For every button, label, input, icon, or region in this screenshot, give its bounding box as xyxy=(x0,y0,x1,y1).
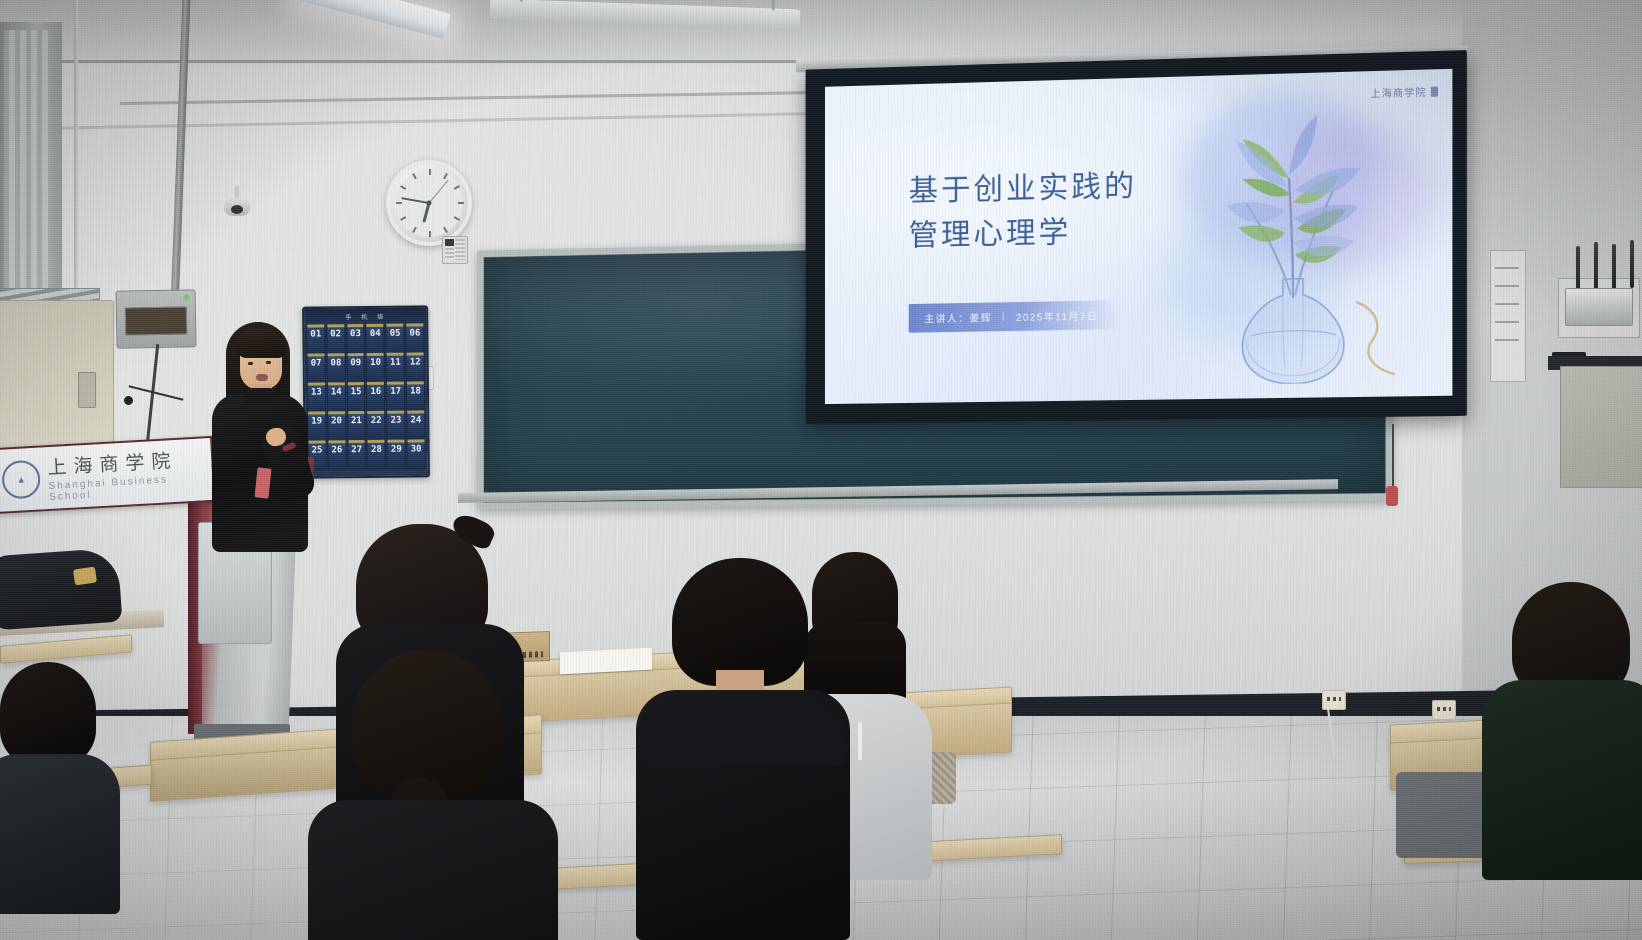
presenter-fringe xyxy=(236,328,286,358)
chair-back xyxy=(1396,772,1496,858)
pocket-chart-header-label: 机 xyxy=(361,311,369,320)
student-torso xyxy=(308,800,558,940)
pocket-chart-row: 07 08 09 10 11 12 xyxy=(307,354,425,383)
pocket-cell[interactable]: 18 xyxy=(406,383,425,411)
antenna-icon xyxy=(1630,240,1634,288)
pocket-number: 12 xyxy=(410,358,421,367)
institution-banner: ▲ 上海商学院 Shanghai Business School xyxy=(0,436,216,514)
pocket-number: 20 xyxy=(331,417,342,426)
pocket-chart-row: 25 26 27 28 29 30 xyxy=(308,441,426,470)
student-head xyxy=(0,662,96,766)
pocket-number: 08 xyxy=(330,359,341,368)
pocket-number: 30 xyxy=(411,445,422,454)
hoodie-drawstring xyxy=(858,722,862,760)
slide-date: 2025年11月7日 xyxy=(1016,308,1099,324)
pocket-number: 22 xyxy=(371,417,382,426)
pocket-cell[interactable]: 09 xyxy=(346,355,365,383)
student-torso xyxy=(0,754,120,914)
pocket-number: 23 xyxy=(391,417,402,426)
pocket-number: 01 xyxy=(310,330,321,339)
pocket-number: 06 xyxy=(409,329,420,338)
slide-subtitle-divider: | xyxy=(1002,311,1006,322)
pocket-number: 09 xyxy=(350,359,361,368)
microphone-icon xyxy=(124,396,133,405)
pocket-cell[interactable]: 19 xyxy=(307,413,326,441)
curtain xyxy=(4,30,50,310)
pocket-number: 07 xyxy=(311,359,322,368)
pocket-chart-header-label: 袋 xyxy=(377,311,385,320)
pocket-cell[interactable]: 12 xyxy=(406,354,425,382)
pocket-number: 25 xyxy=(312,446,323,455)
slide-logo-text: 上海商学院 xyxy=(1370,84,1426,101)
pocket-number: 13 xyxy=(311,388,322,397)
dark-bag xyxy=(0,548,122,631)
pocket-number: 05 xyxy=(390,330,401,339)
slide-institution-logo: 上海商学院 xyxy=(1370,83,1438,100)
pocket-cell[interactable]: 24 xyxy=(406,412,425,440)
wall-conduit-thin-left xyxy=(74,0,78,290)
pocket-cell[interactable]: 10 xyxy=(366,355,385,383)
pocket-number: 29 xyxy=(391,446,402,455)
pocket-number: 19 xyxy=(311,417,322,426)
pocket-cell[interactable]: 27 xyxy=(347,442,366,470)
wall-clock xyxy=(386,160,472,246)
bag-tag xyxy=(73,567,97,586)
pocket-number: 02 xyxy=(330,330,341,339)
pocket-cell[interactable]: 29 xyxy=(387,442,406,470)
university-seal-icon: ▲ xyxy=(1,460,41,500)
classroom-photo: 手 机 袋 01 02 03 04 05 06 07 08 09 10 11 1… xyxy=(0,0,1642,940)
pocket-chart-header-label: 手 xyxy=(345,312,353,321)
signal-router-unit xyxy=(1565,288,1633,326)
antenna-icon xyxy=(1594,242,1598,290)
presenter-mouth xyxy=(256,374,268,381)
pocket-cell[interactable]: 15 xyxy=(347,384,366,412)
power-outlet[interactable] xyxy=(1322,690,1346,710)
pocket-cell[interactable]: 03 xyxy=(346,326,365,354)
pocket-cell[interactable]: 28 xyxy=(367,442,386,470)
projection-screen-frame: 上海商学院 基于创业实践的 管理心理学 主讲人：姜辉 | 2025年11月7日 xyxy=(806,50,1467,424)
student-hood xyxy=(642,696,848,766)
pocket-cell[interactable]: 04 xyxy=(366,326,385,354)
pocket-number: 16 xyxy=(370,388,381,397)
ac-control-knob[interactable] xyxy=(78,372,96,408)
pocket-cell[interactable]: 26 xyxy=(327,442,346,470)
pocket-number: 15 xyxy=(351,388,362,397)
pocket-cell[interactable]: 23 xyxy=(387,413,406,441)
student-head xyxy=(672,558,808,686)
air-conditioner-unit xyxy=(0,300,114,452)
slide-title-line-1: 基于创业实践的 xyxy=(909,162,1227,214)
pocket-number: 21 xyxy=(351,417,362,426)
book-mark-icon xyxy=(1431,86,1438,96)
pocket-cell[interactable]: 02 xyxy=(326,326,345,354)
pocket-chart-row: 13 14 15 16 17 18 xyxy=(307,383,425,412)
wall-keypad[interactable] xyxy=(442,236,468,264)
student-torso xyxy=(1482,680,1642,880)
presenter-collar xyxy=(244,388,278,406)
phone-pocket-chart: 手 机 袋 01 02 03 04 05 06 07 08 09 10 11 1… xyxy=(302,305,430,478)
student-head xyxy=(352,650,502,800)
slide-title: 基于创业实践的 管理心理学 xyxy=(909,162,1227,259)
slide-title-line-2: 管理心理学 xyxy=(909,207,1227,259)
screen-pull-handle[interactable] xyxy=(1386,486,1398,506)
pocket-cell[interactable]: 21 xyxy=(347,413,366,441)
antenna-icon xyxy=(1612,244,1616,292)
pocket-cell[interactable]: 20 xyxy=(327,413,346,441)
pocket-chart-header: 手 机 袋 xyxy=(304,307,426,324)
pocket-cell[interactable]: 14 xyxy=(327,384,346,412)
pocket-cell[interactable]: 05 xyxy=(386,326,405,354)
electrical-control-box[interactable] xyxy=(115,289,196,348)
pocket-cell[interactable]: 22 xyxy=(367,413,386,441)
antenna-icon xyxy=(1576,246,1580,294)
security-camera-icon xyxy=(224,196,250,216)
pocket-number: 03 xyxy=(350,330,361,339)
pocket-cell[interactable]: 08 xyxy=(326,355,345,383)
screen-pull-cord[interactable] xyxy=(1392,424,1394,490)
projection-screen: 上海商学院 基于创业实践的 管理心理学 主讲人：姜辉 | 2025年11月7日 xyxy=(825,69,1452,404)
slide-subtitle-bar: 主讲人：姜辉 | 2025年11月7日 xyxy=(909,300,1121,333)
pocket-cell[interactable]: 06 xyxy=(405,325,424,353)
pocket-number: 10 xyxy=(370,359,381,368)
presenter-person xyxy=(206,322,310,552)
pocket-cell[interactable]: 11 xyxy=(386,355,405,383)
pocket-number: 17 xyxy=(390,388,401,397)
pocket-cell[interactable]: 16 xyxy=(366,384,385,412)
control-box-window xyxy=(125,306,187,335)
pocket-cell[interactable]: 17 xyxy=(386,384,405,412)
pocket-number: 26 xyxy=(331,446,342,455)
wall-electrical-panel[interactable] xyxy=(1490,250,1526,382)
pocket-chart-row: 01 02 03 04 05 06 xyxy=(306,325,424,354)
power-outlet[interactable] xyxy=(1432,700,1456,720)
pocket-number: 04 xyxy=(370,330,381,339)
status-led-icon xyxy=(184,294,190,300)
pocket-number: 11 xyxy=(390,359,401,368)
pocket-chart-grid: 01 02 03 04 05 06 07 08 09 10 11 12 13 1… xyxy=(304,323,428,472)
pocket-number: 24 xyxy=(410,416,421,425)
slide-presenter: 主讲人：姜辉 xyxy=(924,309,992,325)
wall-cabinet[interactable] xyxy=(1560,366,1642,488)
pocket-cell[interactable]: 30 xyxy=(407,441,426,469)
pocket-number: 27 xyxy=(351,446,362,455)
pocket-number: 18 xyxy=(410,387,421,396)
pocket-number: 28 xyxy=(371,446,382,455)
pocket-number: 14 xyxy=(331,388,342,397)
pocket-chart-row: 19 20 21 22 23 24 xyxy=(307,412,425,441)
clock-center-pin xyxy=(427,201,432,206)
